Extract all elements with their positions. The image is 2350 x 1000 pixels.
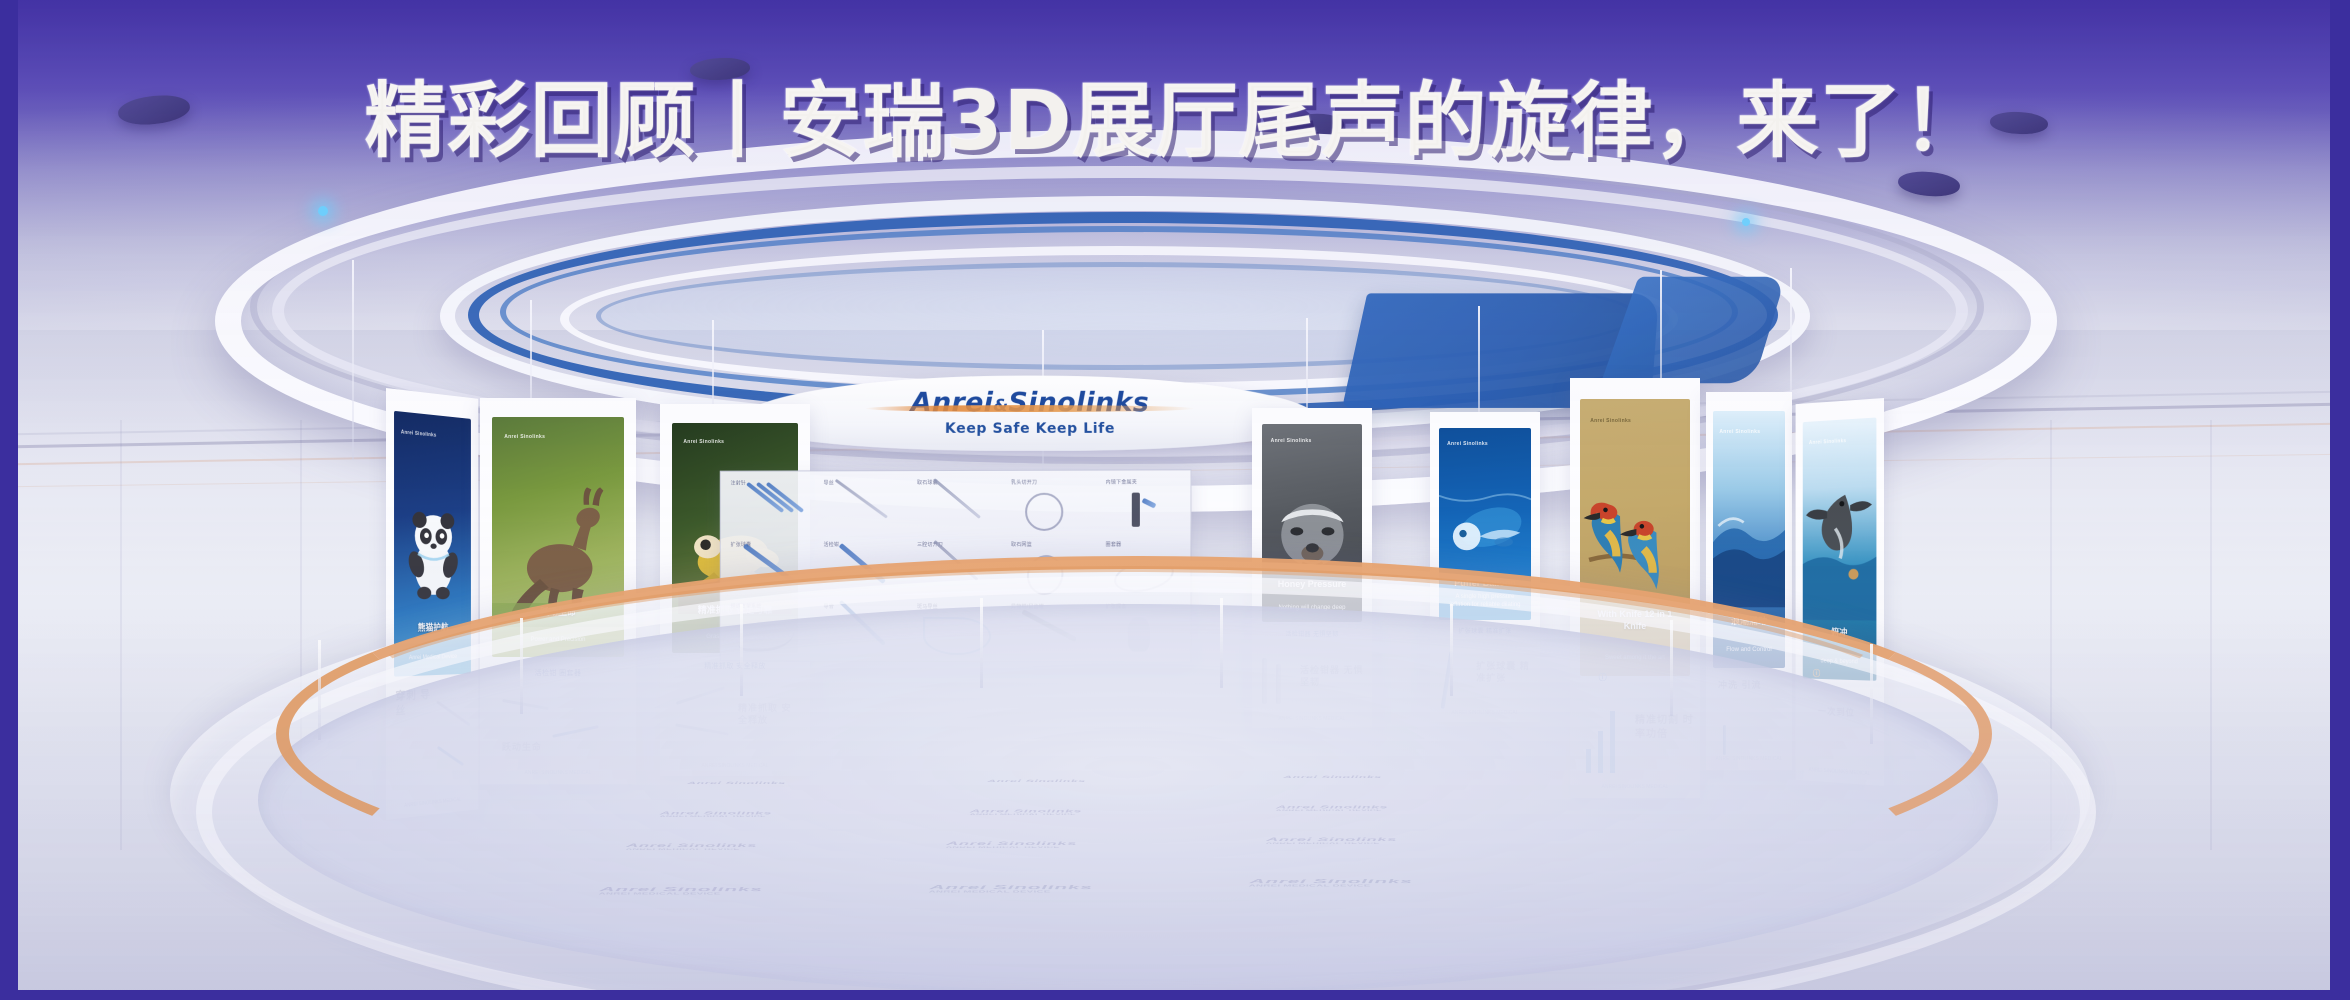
device-illustration (1142, 498, 1157, 509)
brand-tagline: Keep Safe Keep Life (945, 421, 1115, 437)
floor-accent-ring-inner (300, 566, 1952, 890)
glass-rail-post (980, 598, 983, 688)
glass-rail-post (740, 604, 743, 696)
product-label: 三腔切开刀 (917, 541, 1003, 548)
brand-name-part2: Sinolinks (1008, 387, 1149, 418)
device-illustration (1132, 493, 1140, 527)
glass-rail-post (1870, 644, 1873, 744)
product-label: 取石网篮 (1011, 541, 1097, 548)
logo-swoosh-icon (865, 405, 1195, 412)
page-title: 精彩回顾丨安瑞3D展厅尾声的旋律，来了！ (0, 81, 2350, 163)
product-label: 圈套器 (1106, 541, 1185, 548)
ceiling-light-sparkle (1742, 218, 1750, 226)
glass-rail-post (318, 640, 321, 740)
glass-rail-post (1450, 604, 1453, 696)
product-cell[interactable]: 内镜下金属夹 (1106, 478, 1185, 536)
product-cell[interactable]: 注射针 (731, 479, 816, 537)
product-cell[interactable]: 取石球囊 (917, 479, 1003, 537)
product-label: 取石球囊 (917, 479, 1003, 486)
wall-joint (2210, 420, 2212, 850)
wall-joint (120, 420, 122, 850)
exhibition-banner-image: Anrei&Sinolinks Keep Safe Keep Life Anre… (0, 0, 2350, 1000)
product-cell[interactable]: 导丝 (824, 479, 910, 537)
frame-bar-right (2330, 0, 2350, 1000)
product-label: 内镜下金属夹 (1106, 478, 1185, 485)
glass-rail-post (1220, 598, 1223, 688)
frame-bar-left (0, 0, 18, 1000)
product-label: 活检钳 (824, 541, 910, 548)
device-illustration (1025, 493, 1063, 531)
frame-bar-bottom (0, 990, 2350, 1000)
glass-rail-post (520, 618, 523, 714)
brand-name-part1: Anrei (911, 387, 994, 418)
glass-rail-post (1670, 620, 1673, 716)
ceiling-light-sparkle (318, 206, 328, 216)
product-cell[interactable]: 乳头切开刀 (1011, 479, 1097, 537)
product-label: 乳头切开刀 (1011, 479, 1097, 486)
hanging-rod (352, 260, 354, 460)
